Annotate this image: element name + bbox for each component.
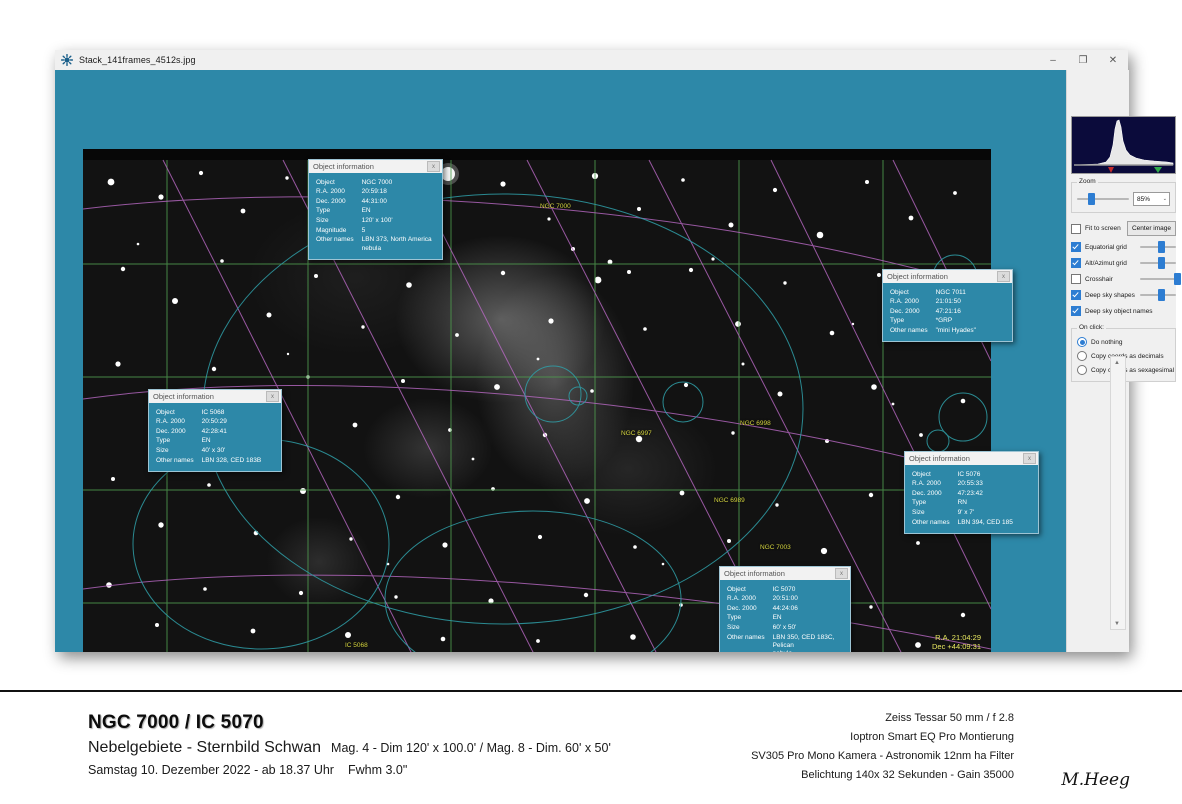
object-property-key: Type (156, 437, 202, 447)
zoom-select[interactable]: 85% ⌄ (1133, 192, 1170, 206)
object-panel-title: Object information (909, 454, 970, 463)
scroll-up-arrow-icon[interactable]: ▲ (1111, 357, 1123, 368)
object-property-key: Dec. 2000 (890, 307, 936, 317)
caption-left: NGC 7000 / IC 5070 Nebelgebiete - Sternb… (88, 712, 611, 777)
object-property-value: LBN 350, CED 183C, Pelican nebula (773, 633, 844, 652)
object-panel-close-icon[interactable]: x (835, 568, 848, 579)
minimize-button[interactable]: – (1038, 50, 1068, 70)
on-click-radio-label: Do nothing (1091, 339, 1122, 346)
zoom-label: Zoom (1077, 178, 1098, 185)
display-option-slider-thumb[interactable] (1158, 241, 1165, 253)
caption-dimensions: Mag. 4 - Dim 120' x 100.0' / Mag. 8 - Di… (331, 741, 611, 755)
object-property-key: Other names (156, 456, 202, 466)
object-property-value: IC 5076 (958, 470, 1013, 480)
object-property-key: R.A. 2000 (727, 595, 773, 605)
object-panel-close-icon[interactable]: x (427, 161, 440, 172)
zoom-slider-track[interactable] (1077, 198, 1129, 200)
caption-equipment-line: Zeiss Tessar 50 mm / f 2.8 (751, 712, 1014, 724)
object-property-value: 47:23:42 (958, 489, 1013, 499)
coordinate-ra: R.A. 21:04:29 (932, 633, 981, 642)
object-property-row: TypeEN (316, 207, 432, 217)
object-property-value: 20:55:33 (958, 480, 1013, 490)
photo-print-page: Stack_141frames_4512s.jpg – ❐ ✕ (0, 0, 1182, 804)
on-click-radio-button[interactable] (1077, 351, 1087, 361)
object-property-row: R.A. 200020:50:29 (156, 418, 261, 428)
display-option-label: Alt/Azimut grid (1085, 260, 1127, 267)
object-information-panel[interactable]: Object informationxObjectNGC 7000R.A. 20… (308, 159, 443, 260)
display-option-checkbox[interactable] (1071, 290, 1081, 300)
stack-icon (61, 54, 73, 66)
sky-object-label: NGC 6997 (621, 430, 652, 437)
object-property-table: ObjectIC 5070R.A. 200020:51:00Dec. 20004… (727, 585, 844, 652)
on-click-label: On click: (1077, 324, 1106, 331)
display-option-row[interactable]: Crosshair (1071, 274, 1176, 284)
object-property-key: Size (316, 216, 362, 226)
object-property-value: LBN 373, North America nebula (362, 236, 432, 254)
object-panel-header[interactable]: Object informationx (309, 160, 442, 173)
object-property-key: Other names (890, 326, 936, 336)
object-property-row: Dec. 200042:28:41 (156, 427, 261, 437)
object-property-row: Other namesLBN 394, CED 185 (912, 518, 1013, 528)
histogram-display[interactable] (1071, 116, 1176, 174)
object-property-key: Size (156, 446, 202, 456)
window-titlebar: Stack_141frames_4512s.jpg – ❐ ✕ (55, 50, 1128, 70)
close-button[interactable]: ✕ (1098, 50, 1128, 70)
display-option-slider-thumb[interactable] (1158, 257, 1165, 269)
sky-object-label: NGC 6989 (714, 497, 745, 504)
caption-title: NGC 7000 / IC 5070 (88, 712, 611, 734)
object-property-value: EN (202, 437, 262, 447)
object-property-value: 60' x 50' (773, 623, 844, 633)
object-property-row: Other namesLBN 328, CED 183B (156, 456, 261, 466)
sky-object-label: NGC 6998 (740, 420, 771, 427)
display-option-slider-thumb[interactable] (1158, 289, 1165, 301)
display-option-label: Deep sky object names (1085, 308, 1153, 315)
object-property-row: Dec. 200044:24:06 (727, 604, 844, 614)
object-property-row: Other namesLBN 350, CED 183C, Pelican ne… (727, 633, 844, 652)
object-property-row: Other names"mini Hyades" (890, 326, 976, 336)
on-click-radio-button[interactable] (1077, 365, 1087, 375)
object-property-value: 5 (362, 226, 432, 236)
display-options-list: Equatorial gridAlt/Azimut gridCrosshairD… (1071, 242, 1176, 316)
image-viewer[interactable]: NGC 7000NGC 7011NGC 6997NGC 6998NGC 6989… (55, 70, 1066, 652)
author-signature: M.Heeg (1061, 770, 1130, 790)
object-property-key: Dec. 2000 (912, 489, 958, 499)
object-property-row: Dec. 200044:31:00 (316, 197, 432, 207)
object-property-row: ObjectIC 5070 (727, 585, 844, 595)
object-property-key: Object (316, 178, 362, 188)
object-property-table: ObjectNGC 7011R.A. 200021:01:50Dec. 2000… (890, 288, 976, 336)
caption-equipment-line: SV305 Pro Mono Kamera - Astronomik 12nm … (751, 750, 1014, 762)
caption-subtitle: Nebelgebiete - Sternbild Schwan (88, 739, 321, 757)
object-property-row: ObjectNGC 7000 (316, 178, 432, 188)
display-option-checkbox[interactable] (1071, 274, 1081, 284)
object-property-key: Other names (727, 633, 773, 652)
object-property-value: 44:24:06 (773, 604, 844, 614)
window-title: Stack_141frames_4512s.jpg (79, 55, 196, 65)
object-information-panel[interactable]: Object informationxObjectIC 5070R.A. 200… (719, 566, 851, 652)
display-option-slider-thumb[interactable] (1174, 273, 1181, 285)
object-property-value: EN (362, 207, 432, 217)
on-click-radio-label: Copy coords as sexagesimal (1091, 367, 1174, 374)
object-panel-title: Object information (887, 272, 948, 281)
object-property-key: R.A. 2000 (912, 480, 958, 490)
object-property-row: R.A. 200020:59:18 (316, 188, 432, 198)
object-property-key: Dec. 2000 (156, 427, 202, 437)
object-property-value: LBN 328, CED 183B (202, 456, 262, 466)
object-property-key: Object (890, 288, 936, 298)
object-property-row: Magnitude5 (316, 226, 432, 236)
object-property-table: ObjectIC 5076R.A. 200020:55:33Dec. 20004… (912, 470, 1013, 528)
object-information-panel[interactable]: Object informationxObjectIC 5076R.A. 200… (904, 451, 1039, 534)
object-property-key: R.A. 2000 (890, 298, 936, 308)
object-property-value: 47:21:16 (936, 307, 976, 317)
control-panel: Zoom 85% ⌄ Fit to screen Center image (1071, 116, 1176, 382)
object-property-key: Object (156, 408, 202, 418)
zoom-group: Zoom 85% ⌄ (1071, 182, 1176, 213)
display-option-label: Crosshair (1085, 276, 1113, 283)
object-property-key: R.A. 2000 (156, 418, 202, 428)
object-property-key: Magnitude (316, 226, 362, 236)
object-property-row: Size9' x 7' (912, 508, 1013, 518)
object-panel-header[interactable]: Object informationx (149, 390, 281, 403)
caption-equipment-line: Belichtung 140x 32 Sekunden - Gain 35000 (751, 769, 1014, 781)
object-property-row: Other namesLBN 373, North America nebula (316, 236, 432, 254)
object-panel-header[interactable]: Object informationx (905, 452, 1038, 465)
sky-object-label: NGC 7003 (760, 544, 791, 551)
display-option-row[interactable]: Alt/Azimut grid (1071, 258, 1176, 268)
scroll-down-arrow-icon[interactable]: ▼ (1111, 618, 1123, 629)
object-information-panel[interactable]: Object informationxObjectNGC 7011R.A. 20… (882, 269, 1013, 342)
display-option-slider-track[interactable] (1140, 262, 1176, 264)
sky-object-label: IC 5068 (345, 642, 368, 649)
object-property-value: 21:01:50 (936, 298, 976, 308)
object-property-key: Type (727, 614, 773, 624)
object-property-row: ObjectIC 5068 (156, 408, 261, 418)
caption-date-row: Samstag 10. Dezember 2022 - ab 18.37 Uhr… (88, 763, 611, 777)
object-property-value: 42:28:41 (202, 427, 262, 437)
zoom-slider-thumb[interactable] (1088, 193, 1095, 205)
object-property-value: 9' x 7' (958, 508, 1013, 518)
zoom-slider-row: 85% ⌄ (1077, 192, 1170, 206)
object-property-row: R.A. 200020:55:33 (912, 480, 1013, 490)
object-property-value: 20:50:29 (202, 418, 262, 428)
object-property-key: Object (912, 470, 958, 480)
display-option-label: Deep sky shapes (1085, 292, 1135, 299)
object-property-key: R.A. 2000 (316, 188, 362, 198)
center-image-button[interactable]: Center image (1127, 221, 1176, 236)
object-property-row: Dec. 200047:23:42 (912, 489, 1013, 499)
display-option-row[interactable]: Deep sky object names (1071, 306, 1176, 316)
caption-right: Zeiss Tessar 50 mm / f 2.8Ioptron Smart … (751, 712, 1014, 788)
fit-and-center-row: Fit to screen Center image (1071, 221, 1176, 236)
application-window: Stack_141frames_4512s.jpg – ❐ ✕ (55, 50, 1128, 652)
on-click-radio-row[interactable]: Do nothing (1077, 337, 1170, 347)
fit-to-screen-checkbox[interactable]: Fit to screen (1071, 224, 1121, 234)
object-property-row: R.A. 200020:51:00 (727, 595, 844, 605)
on-click-radio-button[interactable] (1077, 337, 1087, 347)
object-property-key: Size (912, 508, 958, 518)
object-property-value: 40' x 30' (202, 446, 262, 456)
display-option-slider-track[interactable] (1140, 294, 1176, 296)
object-property-row: TypeRN (912, 499, 1013, 509)
object-property-value: IC 5070 (773, 585, 844, 595)
object-property-row: TypeEN (156, 437, 261, 447)
sky-object-label: NGC 7000 (540, 203, 571, 210)
object-property-row: ObjectIC 5076 (912, 470, 1013, 480)
caption-subtitle-row: Nebelgebiete - Sternbild Schwan Mag. 4 -… (88, 739, 611, 757)
coordinate-readout: R.A. 21:04:29 Dec +44:09:31 (932, 633, 981, 651)
object-property-key: Other names (912, 518, 958, 528)
object-panel-header[interactable]: Object informationx (883, 270, 1012, 283)
caption-divider (0, 690, 1182, 692)
chevron-down-icon: ⌄ (1163, 196, 1169, 202)
object-property-value: EN (773, 614, 844, 624)
maximize-button[interactable]: ❐ (1068, 50, 1098, 70)
display-option-checkbox[interactable] (1071, 306, 1081, 316)
object-panel-close-icon[interactable]: x (266, 391, 279, 402)
object-property-value: LBN 394, CED 185 (958, 518, 1013, 528)
object-property-table: ObjectIC 5068R.A. 200020:50:29Dec. 20004… (156, 408, 261, 466)
object-property-value: "mini Hyades" (936, 326, 976, 336)
zoom-select-value: 85% (1137, 196, 1150, 203)
object-property-row: Dec. 200047:21:16 (890, 307, 976, 317)
display-option-row[interactable]: Deep sky shapes (1071, 290, 1176, 300)
display-option-row[interactable]: Equatorial grid (1071, 242, 1176, 252)
object-property-value: NGC 7000 (362, 178, 432, 188)
object-property-key: Type (912, 499, 958, 509)
sidebar-scrollbar[interactable]: ▲ ▼ (1110, 356, 1126, 630)
object-panel-title: Object information (313, 162, 374, 171)
caption-area: NGC 7000 / IC 5070 Nebelgebiete - Sternb… (0, 700, 1182, 800)
object-property-value: RN (958, 499, 1013, 509)
display-option-checkbox[interactable] (1071, 258, 1081, 268)
object-property-key: Other names (316, 236, 362, 254)
object-property-key: Dec. 2000 (727, 604, 773, 614)
on-click-radio-label: Copy coords as decimals (1091, 353, 1164, 360)
object-property-value: 20:59:18 (362, 188, 432, 198)
object-property-row: ObjectNGC 7011 (890, 288, 976, 298)
object-property-value: *GRP (936, 317, 976, 327)
display-option-checkbox[interactable] (1071, 242, 1081, 252)
object-panel-close-icon[interactable]: x (1023, 453, 1036, 464)
object-property-key: Type (890, 317, 936, 327)
display-option-slider-track[interactable] (1140, 246, 1176, 248)
object-property-row: Size120' x 100' (316, 216, 432, 226)
caption-date: Samstag 10. Dezember 2022 - ab 18.37 Uhr (88, 763, 334, 777)
object-property-key: Object (727, 585, 773, 595)
object-property-value: IC 5068 (202, 408, 262, 418)
caption-equipment-line: Ioptron Smart EQ Pro Montierung (751, 731, 1014, 743)
object-property-table: ObjectNGC 7000R.A. 200020:59:18Dec. 2000… (316, 178, 432, 254)
object-property-value: 120' x 100' (362, 216, 432, 226)
display-option-slider-track[interactable] (1140, 278, 1176, 280)
object-property-row: Type*GRP (890, 317, 976, 327)
object-property-key: Type (316, 207, 362, 217)
object-property-row: R.A. 200021:01:50 (890, 298, 976, 308)
caption-fwhm: Fwhm 3.0" (348, 763, 407, 777)
object-panel-header[interactable]: Object informationx (720, 567, 850, 580)
object-panel-title: Object information (724, 569, 785, 578)
object-property-key: Size (727, 623, 773, 633)
object-property-row: Size40' x 30' (156, 446, 261, 456)
object-panel-close-icon[interactable]: x (997, 271, 1010, 282)
object-property-value: 20:51:00 (773, 595, 844, 605)
object-panel-title: Object information (153, 392, 214, 401)
coordinate-dec: Dec +44:09:31 (932, 642, 981, 651)
object-property-row: TypeEN (727, 614, 844, 624)
window-buttons: – ❐ ✕ (1038, 50, 1128, 70)
object-property-row: Size60' x 50' (727, 623, 844, 633)
fit-to-screen-label: Fit to screen (1085, 225, 1121, 232)
object-property-key: Dec. 2000 (316, 197, 362, 207)
display-option-label: Equatorial grid (1085, 244, 1127, 251)
fit-to-screen-checkbox-box[interactable] (1071, 224, 1081, 234)
object-property-value: 44:31:00 (362, 197, 432, 207)
object-information-panel[interactable]: Object informationxObjectIC 5068R.A. 200… (148, 389, 282, 472)
object-property-value: NGC 7011 (936, 288, 976, 298)
